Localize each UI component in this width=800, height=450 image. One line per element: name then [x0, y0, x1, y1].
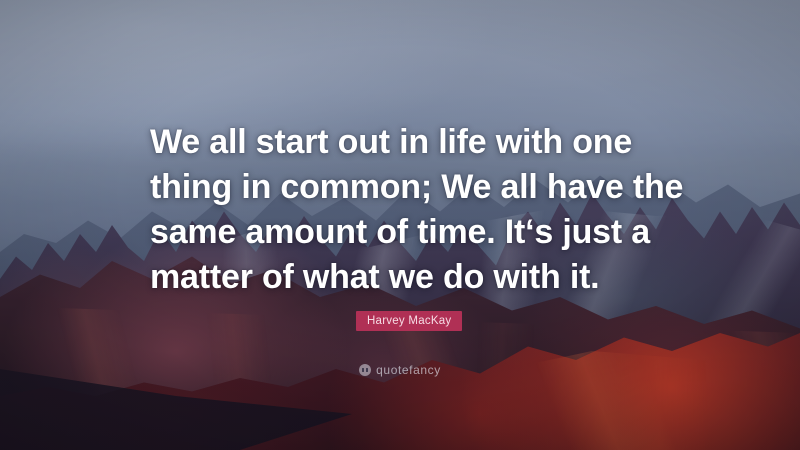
- poster-content: We all start out in life with one thing …: [0, 0, 800, 450]
- watermark: quotefancy: [0, 363, 800, 377]
- quote-line: We all start out in life with one: [150, 120, 670, 165]
- quote-line: same amount of time. It‘s just a: [150, 210, 670, 255]
- author-name: Harvey MacKay: [367, 315, 451, 327]
- quote-line: thing in common; We all have the: [150, 165, 670, 210]
- quote-text: We all start out in life with one thing …: [150, 120, 670, 300]
- quote-mark-icon: [359, 364, 371, 376]
- quote-poster: We all start out in life with one thing …: [0, 0, 800, 450]
- author-badge: Harvey MacKay: [356, 311, 462, 331]
- quote-line: matter of what we do with it.: [150, 255, 670, 300]
- watermark-brand: quotefancy: [376, 363, 441, 377]
